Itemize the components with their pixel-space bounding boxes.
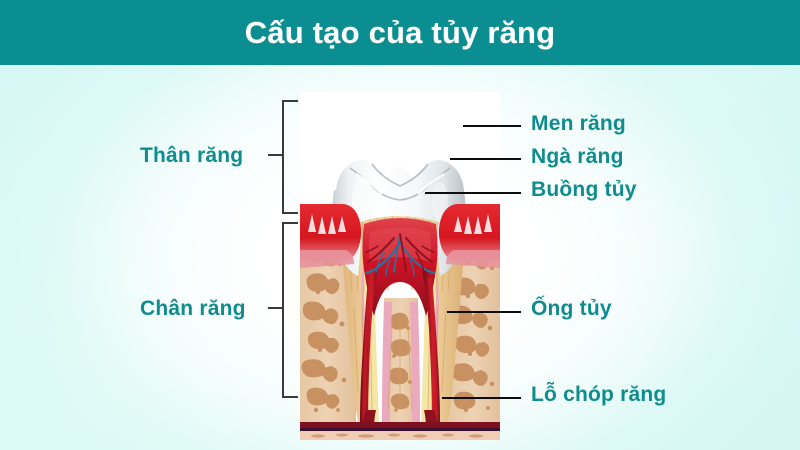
tooth-illustration: [300, 92, 500, 440]
label-chan-rang: Chân răng: [140, 297, 246, 321]
leader-lo-chop-rang: [442, 397, 521, 399]
diagram-page: Cấu tạo của tủy răng: [0, 0, 800, 450]
label-buong-tuy: Buồng tủy: [531, 178, 637, 202]
bracket-crown: [282, 100, 298, 214]
label-ong-tuy: Ống tủy: [531, 297, 612, 321]
header-bar: Cấu tạo của tủy răng: [0, 0, 800, 65]
leader-ong-tuy: [447, 311, 521, 313]
bracket-root-tick: [268, 307, 284, 309]
leader-buong-tuy: [425, 192, 521, 194]
page-title: Cấu tạo của tủy răng: [0, 0, 800, 65]
label-nga-rang: Ngà răng: [531, 145, 624, 169]
leader-men-rang: [463, 125, 521, 127]
label-than-rang: Thân răng: [140, 144, 243, 168]
bracket-root: [282, 222, 298, 398]
bracket-crown-tick: [268, 154, 284, 156]
label-men-rang: Men răng: [531, 112, 626, 136]
leader-nga-rang: [450, 158, 521, 160]
label-lo-chop-rang: Lỗ chóp răng: [531, 383, 666, 407]
